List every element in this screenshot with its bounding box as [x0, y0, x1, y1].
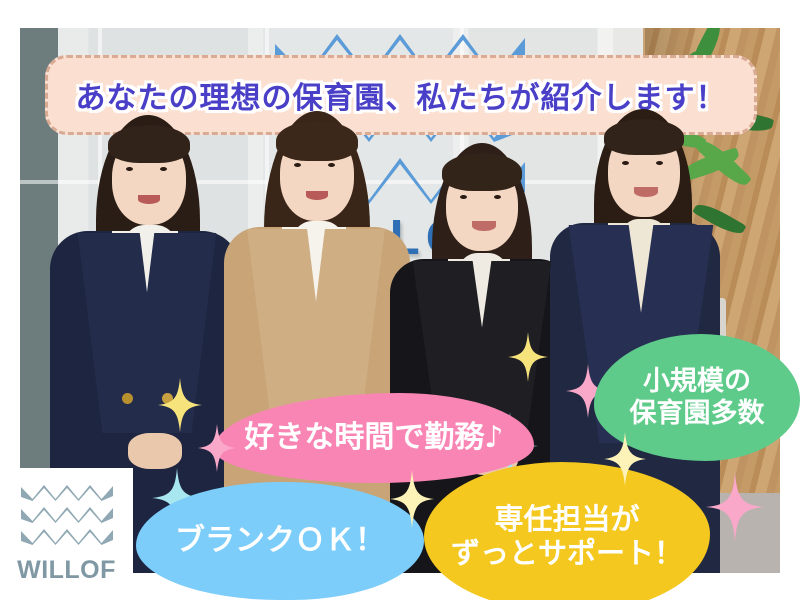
bubble-flexible-hours-text: 好きな時間で勤務♪	[244, 421, 503, 456]
hair-fringe	[276, 121, 358, 161]
logo-zigzag-row	[21, 505, 113, 523]
bubble-blank-ok-text: ブランクＯＫ！	[175, 524, 385, 559]
hair-fringe	[442, 153, 522, 191]
logo-wordmark: WILLOF	[17, 556, 116, 585]
bubble-yellow-line-2: ずっとサポート！	[451, 536, 683, 570]
bubble-blank-ok: ブランクＯＫ！	[136, 482, 424, 600]
sparkle-star-icon	[198, 424, 236, 472]
sparkle-star-icon	[508, 332, 548, 382]
hair-fringe	[604, 119, 684, 155]
sparkle-star-icon	[390, 470, 434, 528]
headline-text: あなたの理想の保育園、私たちが紹介します！	[76, 73, 727, 117]
sparkle-star-icon	[706, 472, 764, 542]
bubble-dedicated-support: 専任担当が ずっとサポート！	[424, 462, 710, 600]
willof-logo: WILLOF	[0, 468, 133, 600]
bubble-green-line-1: 小規模の	[643, 366, 751, 397]
bubble-dedicated-support-text: 専任担当が ずっとサポート！	[451, 503, 683, 570]
logo-zigzag-row	[21, 483, 113, 501]
bubble-small-nurseries-text: 小規模の 保育園多数	[630, 366, 765, 429]
sparkle-star-icon	[604, 432, 646, 486]
bubble-green-line-2: 保育園多数	[630, 398, 765, 429]
bubble-yellow-line-1: 専任担当が	[494, 502, 639, 536]
sparkle-star-icon	[158, 378, 202, 432]
poster-canvas: WILLOF	[0, 0, 800, 600]
logo-zigzag-row	[21, 527, 113, 545]
hair-fringe	[108, 125, 190, 163]
